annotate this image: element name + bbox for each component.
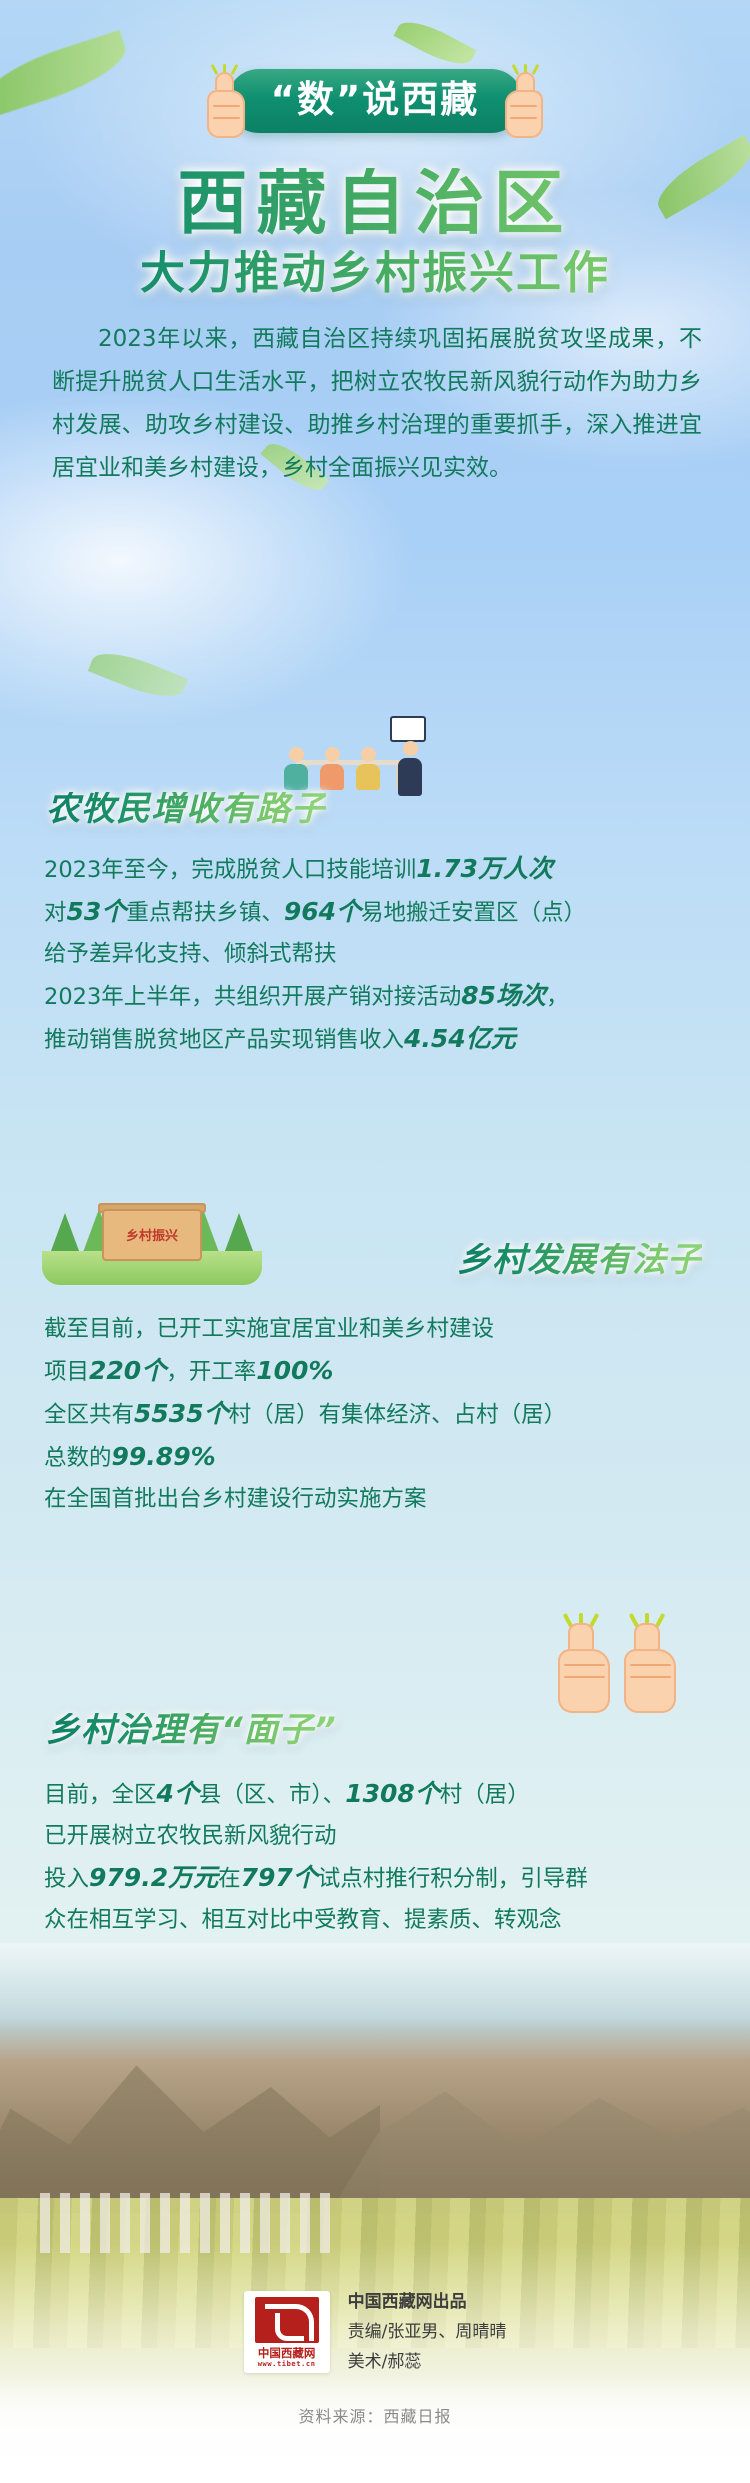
stat-line: 给予差异化支持、倾斜式帮扶 (44, 934, 664, 975)
thumbs-up-icon (618, 1613, 680, 1713)
thumbs-up-icon (203, 64, 249, 138)
stat-line: 全区共有5535个村（居）有集体经济、占村（居） (44, 1393, 684, 1436)
stat-line: 项目220个，开工率100% (44, 1350, 684, 1393)
credit-line: 中国西藏网出品 (348, 2287, 507, 2317)
source-note: 资料来源：西藏日报 (298, 2403, 451, 2427)
logo-mark-icon (255, 2297, 319, 2343)
stat-line: 在全国首批出台乡村建设行动实施方案 (44, 1479, 684, 1520)
credit-line: 美术/郝蕊 (348, 2347, 507, 2377)
stat-line: 截至目前，已开工实施宜居宜业和美乡村建设 (44, 1309, 684, 1350)
double-thumbs-up-illustration (552, 1613, 680, 1713)
intro-paragraph: 2023年以来，西藏自治区持续巩固拓展脱贫攻坚成果，不断提升脱贫人口生活水平，把… (52, 318, 702, 490)
tibet-net-logo: 中国西藏网 www.tibet.cn (244, 2291, 330, 2374)
stat-line: 目前，全区4个县（区、市）、1308个村（居） (44, 1773, 694, 1816)
footer: 中国西藏网 www.tibet.cn 中国西藏网出品 责编/张亚男、周晴晴 美术… (0, 2287, 750, 2427)
stat-line: 投入979.2万元在797个试点村推行积分制，引导群 (44, 1857, 694, 1900)
stat-line: 2023年至今，完成脱贫人口技能培训1.73万人次 (44, 848, 664, 891)
stat-line: 2023年上半年，共组织开展产销对接活动85场次， (44, 975, 664, 1018)
section-body: 截至目前，已开工实施宜居宜业和美乡村建设 项目220个，开工率100% 全区共有… (44, 1309, 684, 1520)
credit-line: 责编/张亚男、周晴晴 (348, 2317, 507, 2347)
stat-line: 推动销售脱贫地区产品实现销售收入4.54亿元 (44, 1018, 664, 1061)
section-heading: 乡村发展有法子 (457, 1243, 702, 1277)
logo-name: 中国西藏网 (252, 2346, 322, 2361)
training-people-illustration (278, 710, 438, 796)
credits: 中国西藏网出品 责编/张亚男、周晴晴 美术/郝蕊 (348, 2287, 507, 2377)
section-heading: 乡村治理有“面子” (46, 1713, 337, 1747)
section-body: 2023年至今，完成脱贫人口技能培训1.73万人次 对53个重点帮扶乡镇、964… (44, 848, 664, 1061)
leaf-decoration-icon (88, 643, 188, 707)
infographic-poster: “数”说西藏 西藏自治区 大力推动乡村振兴工作 2023年以来，西藏自治区持续巩… (0, 0, 750, 2483)
stat-line: 对53个重点帮扶乡镇、964个易地搬迁安置区（点） (44, 891, 664, 934)
thumbs-up-icon (552, 1613, 614, 1713)
stat-line: 众在相互学习、相互对比中受教育、提素质、转观念 (44, 1900, 694, 1941)
header-badge-row: “数”说西藏 (0, 60, 750, 142)
rural-revitalization-box-illustration: 乡村振兴 (42, 1175, 262, 1285)
carton-label: 乡村振兴 (104, 1225, 200, 1244)
footer-row: 中国西藏网 www.tibet.cn 中国西藏网出品 责编/张亚男、周晴晴 美术… (244, 2287, 507, 2377)
logo-url: www.tibet.cn (252, 2360, 322, 2368)
header-badge-label: “数”说西藏 (271, 81, 480, 118)
page-subtitle: 大力推动乡村振兴工作 (0, 250, 750, 295)
page-title: 西藏自治区 (0, 168, 750, 238)
stat-line: 已开展树立农牧民新风貌行动 (44, 1816, 694, 1857)
section-heading: 农牧民增收有路子 (46, 792, 326, 826)
stat-line: 总数的99.89% (44, 1436, 684, 1479)
thumbs-up-icon (501, 64, 547, 138)
header-badge: “数”说西藏 (227, 69, 524, 133)
